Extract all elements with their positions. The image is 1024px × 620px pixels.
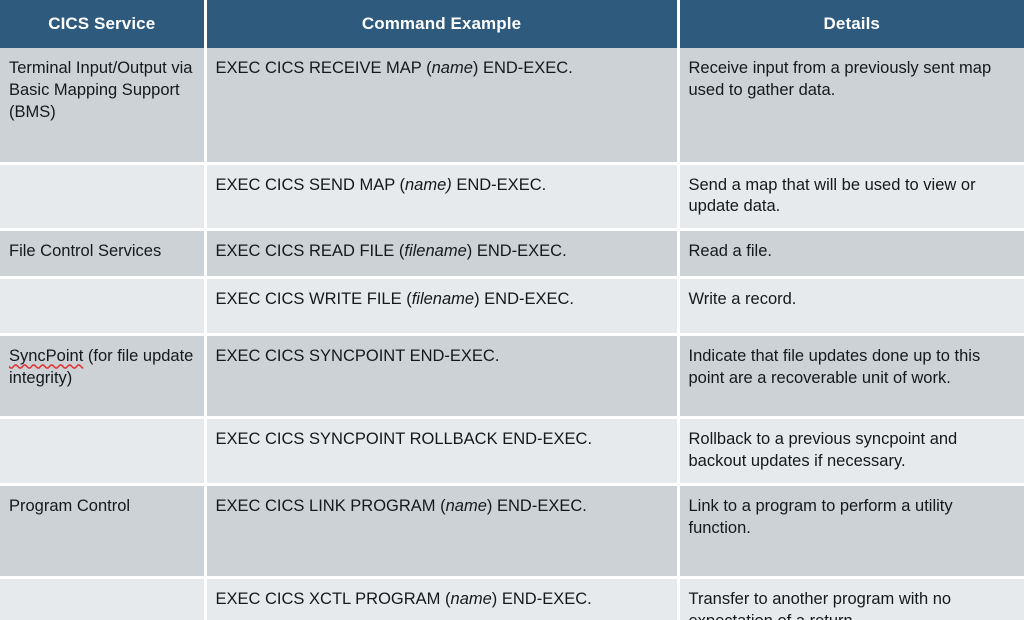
column-header-command-example[interactable]: Command Example [205,0,678,48]
command-parameter: name) [405,176,452,194]
cell-details: Read a file. [678,230,1024,278]
command-text: EXEC CICS READ FILE ( [216,242,405,260]
cell-cics-service [0,163,205,230]
column-header-details[interactable]: Details [678,0,1024,48]
command-text: EXEC CICS SYNCPOINT ROLLBACK END-EXEC. [216,430,593,448]
table-row: Terminal Input/Output via Basic Mapping … [0,48,1024,163]
cell-text: File Control Services [9,242,161,260]
details-text: Link to a program to perform a utility f… [689,497,953,537]
table-row: EXEC CICS SEND MAP (name) END-EXEC.Send … [0,163,1024,230]
cell-cics-service [0,418,205,485]
cell-text: Program Control [9,497,130,515]
cell-cics-service: File Control Services [0,230,205,278]
cell-details: Send a map that will be used to view or … [678,163,1024,230]
details-text: Transfer to another program with no expe… [689,590,952,620]
cell-details: Write a record. [678,278,1024,335]
cell-cics-service: SyncPoint (for file update integrity) [0,335,205,418]
details-text: Send a map that will be used to view or … [689,176,976,216]
command-text-suffix: ) END-EXEC. [467,242,567,260]
command-text: EXEC CICS SYNCPOINT END-EXEC. [216,347,500,365]
column-header-cics-service[interactable]: CICS Service [0,0,205,48]
cell-details: Indicate that file updates done up to th… [678,335,1024,418]
command-parameter: name [451,590,492,608]
cell-text: Terminal Input/Output via Basic Mapping … [9,59,192,121]
cell-cics-service: Program Control [0,485,205,578]
table-body: Terminal Input/Output via Basic Mapping … [0,48,1024,620]
command-text-suffix: ) END-EXEC. [474,290,574,308]
table-row: EXEC CICS WRITE FILE (filename) END-EXEC… [0,278,1024,335]
command-text-suffix: ) END-EXEC. [487,497,587,515]
cell-cics-service: Terminal Input/Output via Basic Mapping … [0,48,205,163]
command-parameter: name [446,497,487,515]
cell-command-example: EXEC CICS READ FILE (filename) END-EXEC. [205,230,678,278]
command-parameter: filename [404,242,466,260]
misspelled-word: SyncPoint [9,347,83,365]
table-row: Program ControlEXEC CICS LINK PROGRAM (n… [0,485,1024,578]
cell-details: Receive input from a previously sent map… [678,48,1024,163]
command-parameter: name [432,59,473,77]
cell-command-example: EXEC CICS RECEIVE MAP (name) END-EXEC. [205,48,678,163]
cell-details: Link to a program to perform a utility f… [678,485,1024,578]
command-text: EXEC CICS RECEIVE MAP ( [216,59,432,77]
details-text: Write a record. [689,290,797,308]
cell-command-example: EXEC CICS SYNCPOINT END-EXEC. [205,335,678,418]
cell-details: Transfer to another program with no expe… [678,578,1024,620]
details-text: Indicate that file updates done up to th… [689,347,981,387]
command-text-suffix: ) END-EXEC. [473,59,573,77]
command-parameter: filename [412,290,474,308]
cell-cics-service [0,578,205,620]
cell-command-example: EXEC CICS SYNCPOINT ROLLBACK END-EXEC. [205,418,678,485]
command-text: EXEC CICS XCTL PROGRAM ( [216,590,451,608]
command-text: EXEC CICS WRITE FILE ( [216,290,412,308]
cell-cics-service [0,278,205,335]
cell-command-example: EXEC CICS WRITE FILE (filename) END-EXEC… [205,278,678,335]
header-row: CICS Service Command Example Details [0,0,1024,48]
details-text: Read a file. [689,242,772,260]
table-row: EXEC CICS SYNCPOINT ROLLBACK END-EXEC.Ro… [0,418,1024,485]
cics-services-table: CICS Service Command Example Details Ter… [0,0,1024,620]
table-row: File Control ServicesEXEC CICS READ FILE… [0,230,1024,278]
table-row: EXEC CICS XCTL PROGRAM (name) END-EXEC.T… [0,578,1024,620]
command-text: EXEC CICS LINK PROGRAM ( [216,497,446,515]
command-text: EXEC CICS SEND MAP ( [216,176,405,194]
cell-command-example: EXEC CICS XCTL PROGRAM (name) END-EXEC. [205,578,678,620]
cell-command-example: EXEC CICS SEND MAP (name) END-EXEC. [205,163,678,230]
table-row: SyncPoint (for file update integrity)EXE… [0,335,1024,418]
cell-command-example: EXEC CICS LINK PROGRAM (name) END-EXEC. [205,485,678,578]
cell-details: Rollback to a previous syncpoint and bac… [678,418,1024,485]
details-text: Receive input from a previously sent map… [689,59,992,99]
command-text-suffix: ) END-EXEC. [492,590,592,608]
details-text: Rollback to a previous syncpoint and bac… [689,430,958,470]
table-header: CICS Service Command Example Details [0,0,1024,48]
command-text-suffix: END-EXEC. [452,176,546,194]
